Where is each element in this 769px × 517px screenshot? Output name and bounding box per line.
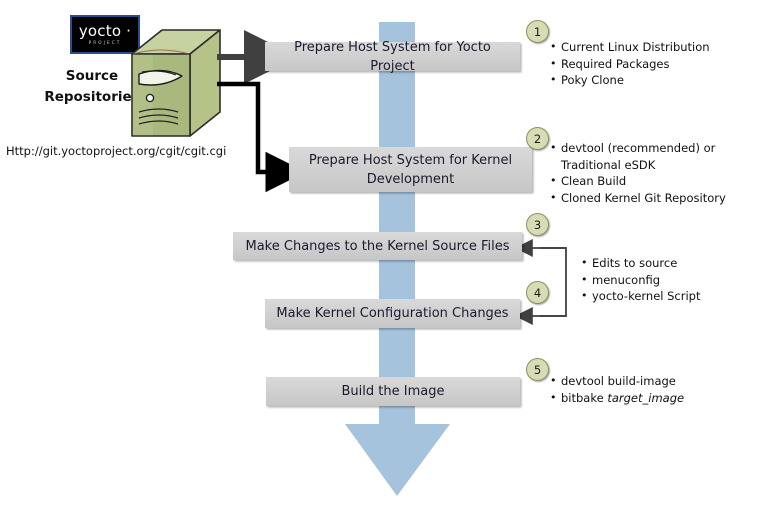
list-item: Cloned Kernel Git Repository xyxy=(549,190,726,207)
step-box-prepare-host-kernel[interactable]: Prepare Host System for Kernel Developme… xyxy=(289,147,532,192)
step2-bullet-list: devtool (recommended) or Traditional eSD… xyxy=(549,140,726,206)
connector-server-to-step2 xyxy=(217,84,270,172)
list-item: Poky Clone xyxy=(549,72,710,89)
step-badge-5: 5 xyxy=(526,358,549,381)
step-badge-4: 4 xyxy=(526,281,549,304)
step-badge-1: 1 xyxy=(526,20,549,43)
diagram-canvas: yocto · PROJECT Source Repositories Http… xyxy=(0,0,769,517)
step-box-make-source-changes[interactable]: Make Changes to the Kernel Source Files xyxy=(233,232,522,260)
logo-subtitle: PROJECT xyxy=(89,40,122,46)
list-item: devtool build-image xyxy=(549,373,684,390)
list-item: Clean Build xyxy=(549,173,726,190)
list-item: bitbake target_image xyxy=(549,390,684,407)
step5-bullet-list: devtool build-image bitbake target_image xyxy=(549,373,684,406)
list-item: Required Packages xyxy=(549,56,710,73)
logo-wordmark: yocto · xyxy=(79,24,131,39)
bitbake-command-prefix: bitbake xyxy=(561,391,607,405)
step-box-build-image[interactable]: Build the Image xyxy=(266,377,520,406)
bitbake-target-placeholder: target_image xyxy=(607,391,684,405)
list-item: Edits to source xyxy=(580,255,701,272)
list-item: yocto-kernel Script xyxy=(580,288,701,305)
step-box-prepare-host-yocto[interactable]: Prepare Host System for Yocto Project xyxy=(265,42,520,71)
list-item: menuconfig xyxy=(580,272,701,289)
main-flow-arrow xyxy=(330,18,470,508)
list-item: devtool (recommended) or xyxy=(549,140,726,157)
server-tower-icon xyxy=(128,28,224,140)
steps-3-4-shared-bullet-list: Edits to source menuconfig yocto-kernel … xyxy=(580,255,701,305)
list-item: Current Linux Distribution xyxy=(549,39,710,56)
step-box-make-config-changes[interactable]: Make Kernel Configuration Changes xyxy=(265,299,520,328)
step1-bullet-list: Current Linux Distribution Required Pack… xyxy=(549,39,710,89)
source-repositories-url: Http://git.yoctoproject.org/cgit/cgit.cg… xyxy=(6,144,236,158)
step-badge-3: 3 xyxy=(526,213,549,236)
list-item-continuation: Traditional eSDK xyxy=(549,157,726,174)
step-badge-2: 2 xyxy=(526,127,549,150)
